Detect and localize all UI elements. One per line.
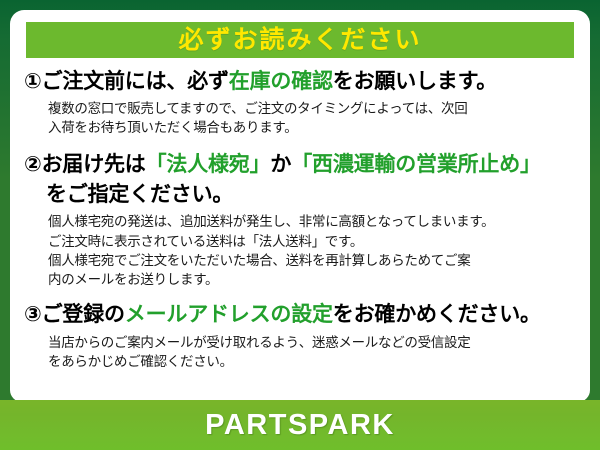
notice-card: 必ずお読みください ①ご注文前には、必ず在庫の確認をお願いします。 複数の窓口で… — [0, 0, 600, 450]
item-1-subline-1: 複数の窓口で販売してますので、ご注文のタイミングによっては、次回 — [48, 99, 578, 118]
notice-panel: 必ずお読みください ①ご注文前には、必ず在庫の確認をお願いします。 複数の窓口で… — [10, 10, 590, 402]
footer-logo-band: PARTSPARK — [0, 400, 600, 450]
item-2-heading-middle: か — [270, 153, 291, 176]
item-2-heading-prefix: お届け先は — [42, 153, 146, 176]
item-2-heading-highlight-2: 「西濃運輸の営業所止め」 — [291, 153, 541, 176]
item-1-marker: ① — [24, 70, 42, 93]
item-2-heading: ②お届け先は「法人様宛」か「西濃運輸の営業所止め」 — [24, 151, 578, 179]
item-3-subtext: 当店からのご案内メールが受け取れるよう、迷惑メールなどの受信設定 をあらかじめご… — [24, 333, 578, 371]
item-1-heading-prefix: ご注文前には、必ず — [42, 70, 229, 93]
item-1-subline-2: 入荷をお待ち頂いただく場合もあります。 — [48, 118, 578, 137]
item-1-heading-suffix: をお願いします。 — [333, 70, 497, 93]
item-2-marker: ② — [24, 153, 42, 176]
item-2-subline-2: ご注文時に表示されている送料は「法人送料」です。 — [48, 232, 578, 251]
item-1-subtext: 複数の窓口で販売してますので、ご注文のタイミングによっては、次回 入荷をお待ち頂… — [24, 99, 578, 137]
item-3-heading-prefix: ご登録の — [42, 303, 125, 326]
item-3-heading: ③ご登録のメールアドレスの設定をお確かめください。 — [24, 301, 578, 329]
notice-item-2: ②お届け先は「法人様宛」か「西濃運輸の営業所止め」 をご指定ください。 個人様宅… — [24, 151, 578, 289]
notice-content: ①ご注文前には、必ず在庫の確認をお願いします。 複数の窓口で販売してますので、ご… — [10, 68, 590, 373]
item-2-subline-1: 個人様宅宛の発送は、追加送料が発生し、非常に高額となってしまいます。 — [48, 212, 578, 231]
item-1-heading: ①ご注文前には、必ず在庫の確認をお願いします。 — [24, 68, 578, 96]
partspark-logo: PARTSPARK — [205, 411, 395, 440]
title-banner: 必ずお読みください — [26, 22, 574, 58]
item-3-marker: ③ — [24, 303, 42, 326]
item-3-subline-1: 当店からのご案内メールが受け取れるよう、迷惑メールなどの受信設定 — [48, 333, 578, 352]
notice-item-1: ①ご注文前には、必ず在庫の確認をお願いします。 複数の窓口で販売してますので、ご… — [24, 68, 578, 137]
banner-title: 必ずお読みください — [178, 28, 421, 53]
item-2-subtext: 個人様宅宛の発送は、追加送料が発生し、非常に高額となってしまいます。 ご注文時に… — [24, 212, 578, 289]
item-3-heading-highlight: メールアドレスの設定 — [125, 303, 333, 326]
notice-item-3: ③ご登録のメールアドレスの設定をお確かめください。 当店からのご案内メールが受け… — [24, 301, 578, 371]
item-2-heading-highlight-1: 「法人様宛」 — [146, 153, 271, 176]
item-2-heading-line2: をご指定ください。 — [24, 181, 578, 208]
item-2-subline-3: 個人様宅宛でご注文をいただいた場合、送料を再計算しあらためてご案 — [48, 251, 578, 270]
item-3-subline-2: をあらかじめご確認ください。 — [48, 352, 578, 371]
item-1-heading-highlight: 在庫の確認 — [229, 70, 333, 93]
item-3-heading-suffix: をお確かめください。 — [333, 303, 541, 326]
item-2-subline-4: 内のメールをお送りします。 — [48, 270, 578, 289]
